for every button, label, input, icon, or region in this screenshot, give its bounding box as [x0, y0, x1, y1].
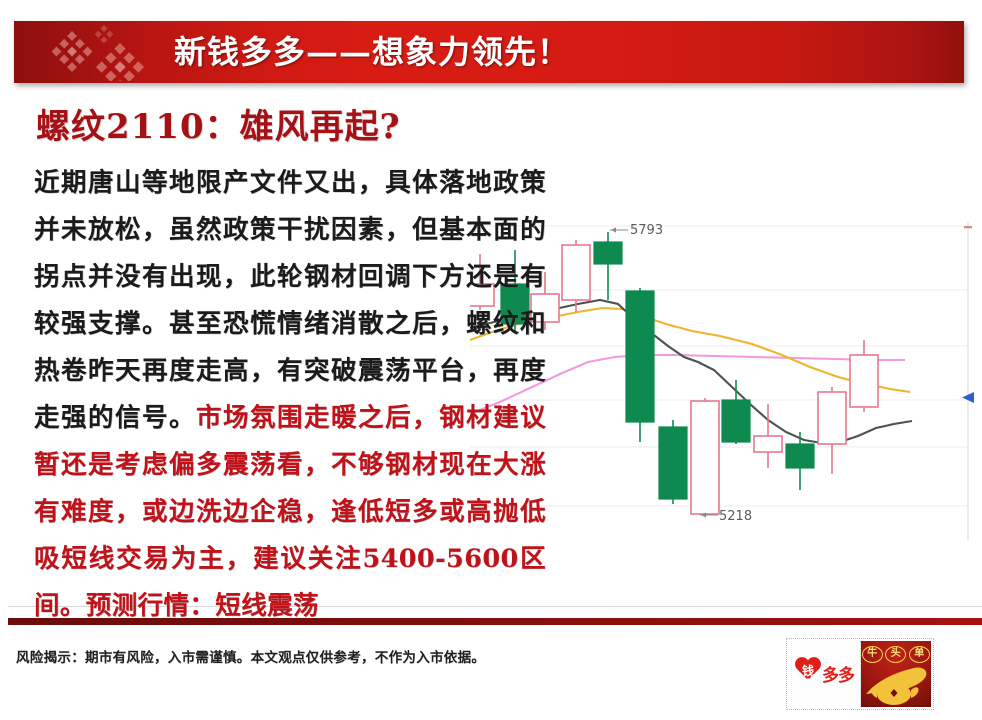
article-body: 近期唐山等地限产文件又出，具体落地政策并未放松，虽然政策干扰因素，但基本面的拐点… — [34, 160, 546, 630]
axis-top-tick — [964, 226, 972, 228]
stamp-char-1: 牛 — [862, 646, 883, 663]
candle — [754, 404, 782, 468]
heart-icon: 钱 — [795, 658, 821, 682]
header-banner: 新钱多多——想象力领先！ — [14, 21, 964, 83]
diamond-lattice-logo-icon — [42, 23, 174, 81]
candle — [659, 420, 687, 504]
candle — [691, 398, 719, 514]
body-segment-black: 近期唐山等地限产文件又出，具体落地政策并未放松，虽然政策干扰因素，但基本面的拐点… — [34, 168, 546, 433]
body-segment-red: 市场氛围走暖之后，钢材建议暂还是考虑偏多震荡看，不够钢材现在大涨有难度，或边洗边… — [34, 403, 546, 621]
candle — [722, 380, 750, 444]
qianduoduo-text: 多多 — [822, 661, 854, 686]
niutoudan-chars: 牛 头 单 — [861, 646, 932, 663]
candle — [850, 340, 878, 412]
brand-stamp-group: 钱 多多 牛 头 单 — [786, 638, 934, 710]
golden-bull-icon — [864, 664, 930, 706]
page-title: 螺纹2110：雄风再起? — [36, 99, 401, 148]
risk-disclaimer: 风险揭示：期市有风险，入市需谨慎。本文观点仅供参考，不作为入市依据。 — [16, 646, 485, 666]
high-price-label: 5793 — [630, 223, 663, 238]
stamp-char-3: 单 — [909, 646, 930, 663]
heart-char: 钱 — [795, 662, 821, 679]
banner-title: 新钱多多——想象力领先！ — [174, 27, 934, 79]
candle — [562, 240, 590, 312]
candlestick-chart: 5793 5218 — [470, 212, 982, 540]
candle — [626, 288, 654, 442]
low-price-label: 5218 — [719, 509, 752, 524]
qianduoduo-stamp: 钱 多多 — [789, 641, 861, 707]
niutoudan-stamp: 牛 头 单 — [861, 641, 932, 707]
candle — [818, 387, 846, 474]
stamp-char-2: 头 — [885, 646, 906, 663]
high-price-annotation: 5793 — [610, 223, 663, 238]
